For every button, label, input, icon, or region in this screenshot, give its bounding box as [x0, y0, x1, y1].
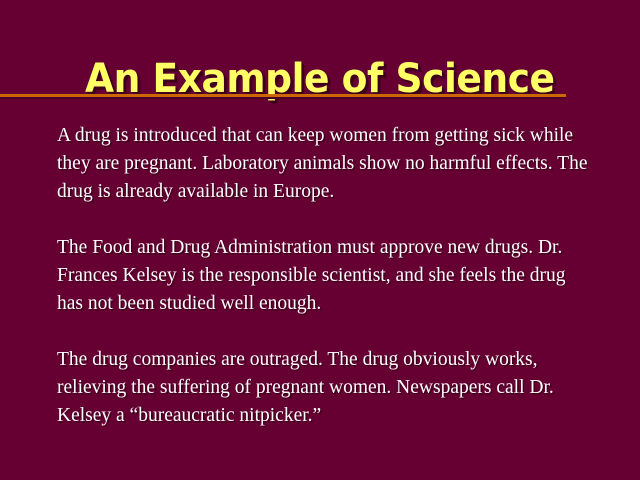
slide-body: A drug is introduced that can keep women…: [57, 122, 592, 430]
body-paragraph: The drug companies are outraged. The dru…: [57, 346, 592, 430]
presentation-slide: An Example of Science A drug is introduc…: [0, 0, 640, 480]
title-area: An Example of Science: [0, 28, 640, 130]
title-divider-shadow: [0, 97, 566, 99]
body-paragraph: A drug is introduced that can keep women…: [57, 122, 592, 206]
body-paragraph: The Food and Drug Administration must ap…: [57, 234, 592, 318]
